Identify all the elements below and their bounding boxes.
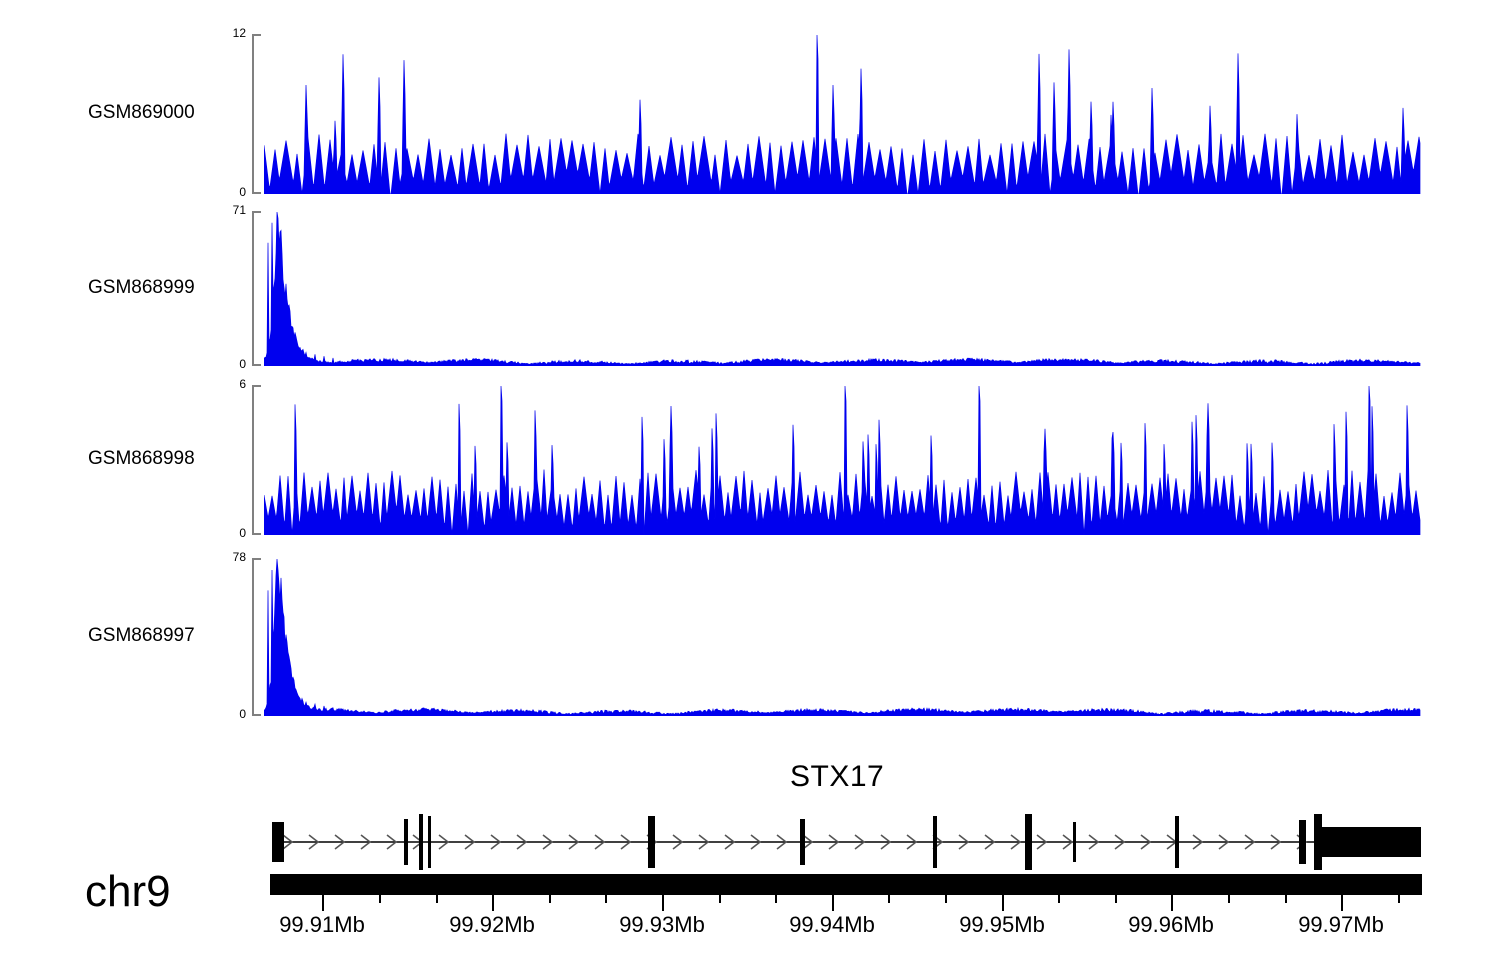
axis-tick-major <box>322 895 324 911</box>
axis-tick-minor <box>1285 895 1287 903</box>
y-axis-max-label: 78 <box>194 550 246 564</box>
y-axis-max-label: 71 <box>194 203 246 217</box>
y-axis-tick-min <box>252 714 261 716</box>
gene-name-label: STX17 <box>790 760 884 794</box>
coverage-plot[interactable] <box>264 385 1421 535</box>
axis-tick-major <box>1002 895 1004 911</box>
y-axis-line <box>252 211 254 366</box>
gene-model-graphic[interactable] <box>0 800 1500 870</box>
y-axis-tick-max <box>252 34 261 36</box>
axis-tick-minor <box>436 895 438 903</box>
axis-tick-minor <box>1115 895 1117 903</box>
axis-tick-major <box>1341 895 1343 911</box>
axis-tick-minor <box>549 895 551 903</box>
axis-tick-minor <box>379 895 381 903</box>
genome-browser: GSM869000120GSM868999710GSM86899860GSM86… <box>0 0 1500 980</box>
axis-tick-label: 99.97Mb <box>1298 912 1384 938</box>
y-axis-min-label: 0 <box>194 357 246 371</box>
track-sample-label: GSM868997 <box>88 625 195 647</box>
y-axis-min-label: 0 <box>194 707 246 721</box>
y-axis-max-label: 6 <box>194 377 246 391</box>
gene-annotation-panel: STX17 <box>0 760 1500 870</box>
axis-tick-label: 99.95Mb <box>959 912 1045 938</box>
axis-tick-minor <box>1398 895 1400 903</box>
axis-tick-major <box>662 895 664 911</box>
track-sample-label: GSM868998 <box>88 448 195 470</box>
axis-tick-label: 99.93Mb <box>619 912 705 938</box>
axis-tick-label: 99.96Mb <box>1128 912 1214 938</box>
axis-tick-major <box>492 895 494 911</box>
axis-tick-label: 99.92Mb <box>449 912 535 938</box>
coverage-plot[interactable] <box>264 34 1421 194</box>
coverage-plot[interactable] <box>264 211 1421 366</box>
coverage-plot[interactable] <box>264 558 1421 716</box>
chromosome-label: chr9 <box>85 870 171 914</box>
y-axis-tick-min <box>252 192 261 194</box>
chromosome-axis-panel: chr9 99.91Mb99.92Mb99.93Mb99.94Mb99.95Mb… <box>0 870 1500 980</box>
chromosome-ideogram-bar[interactable] <box>270 874 1422 895</box>
axis-tick-minor <box>605 895 607 903</box>
axis-tick-minor <box>945 895 947 903</box>
y-axis-line <box>252 385 254 535</box>
axis-tick-minor <box>1228 895 1230 903</box>
axis-tick-major <box>1171 895 1173 911</box>
axis-tick-label: 99.91Mb <box>279 912 365 938</box>
y-axis-line <box>252 34 254 194</box>
y-axis-min-label: 0 <box>194 526 246 540</box>
y-axis-line <box>252 558 254 716</box>
track-sample-label: GSM869000 <box>88 102 195 124</box>
axis-tick-minor <box>1058 895 1060 903</box>
track-sample-label: GSM868999 <box>88 277 195 299</box>
axis-tick-minor <box>775 895 777 903</box>
axis-tick-label: 99.94Mb <box>789 912 875 938</box>
axis-tick-major <box>832 895 834 911</box>
y-axis-tick-max <box>252 385 261 387</box>
y-axis-max-label: 12 <box>194 26 246 40</box>
y-axis-tick-max <box>252 558 261 560</box>
y-axis-min-label: 0 <box>194 185 246 199</box>
y-axis-tick-max <box>252 211 261 213</box>
y-axis-tick-min <box>252 533 261 535</box>
y-axis-tick-min <box>252 364 261 366</box>
axis-tick-minor <box>888 895 890 903</box>
axis-tick-minor <box>719 895 721 903</box>
